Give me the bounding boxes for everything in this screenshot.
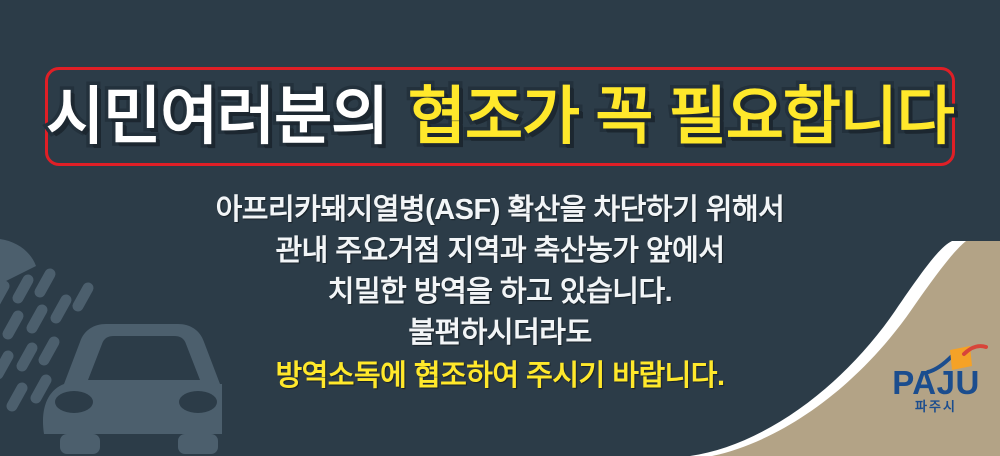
asf-notice-banner: 시민여러분의 협조가 꼭 필요합니다 아프리카돼지열병(ASF) 확산을 차단하…	[0, 0, 1000, 456]
headline-yellow-text: 협조가 꼭 필요합니다	[408, 86, 954, 149]
paju-wordmark: PAJU	[886, 366, 986, 399]
paju-logo: PAJU 파주시	[886, 344, 986, 416]
headline-white-text: 시민여러분의	[46, 86, 388, 149]
body-line: 치밀한 방역을 하고 있습니다.	[0, 272, 1000, 313]
body-line-accent: 방역소독에 협조하여 주시기 바랍니다.	[0, 356, 1000, 397]
paju-subtitle: 파주시	[886, 400, 986, 413]
body-copy: 아프리카돼지열병(ASF) 확산을 차단하기 위해서 관내 주요거점 지역과 축…	[0, 190, 1000, 397]
body-line: 관내 주요거점 지역과 축산농가 앞에서	[0, 231, 1000, 272]
body-line: 불편하시더라도	[0, 313, 1000, 354]
headline: 시민여러분의 협조가 꼭 필요합니다	[0, 62, 1000, 172]
body-line: 아프리카돼지열병(ASF) 확산을 차단하기 위해서	[0, 190, 1000, 231]
